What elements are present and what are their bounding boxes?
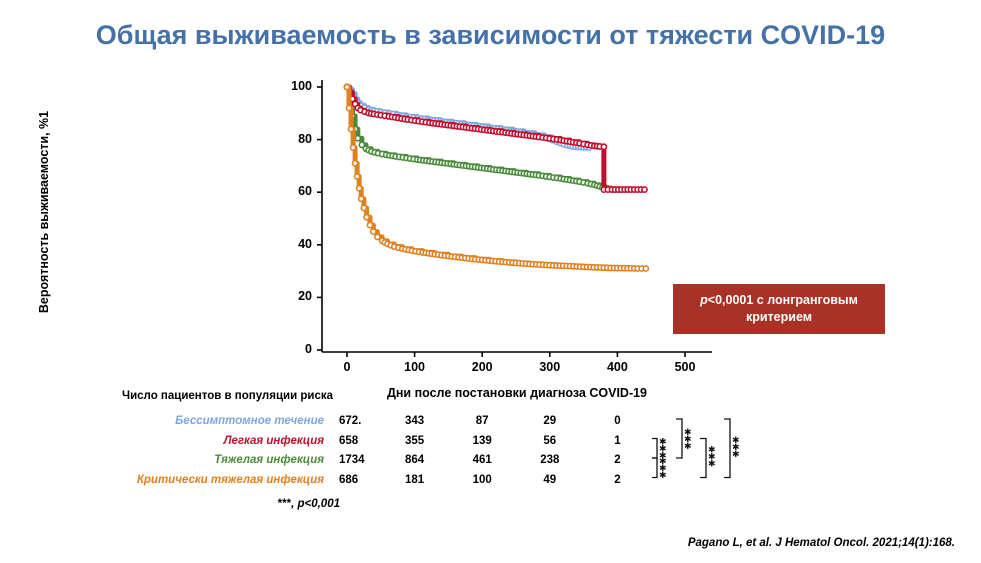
risk-row-value: 49 <box>522 474 578 486</box>
risk-row-value: 139 <box>454 435 510 447</box>
risk-row-value: 355 <box>387 435 443 447</box>
risk-row-value: 864 <box>387 454 443 466</box>
y-tick-label: 100 <box>282 79 312 93</box>
x-axis-label: Дни после постановки диагноза COVID-19 <box>322 386 712 400</box>
significance-brackets: ✱✱✱✱✱✱✱✱✱✱✱✱✱✱✱ <box>630 400 770 520</box>
svg-text:✱: ✱ <box>659 470 667 480</box>
risk-row-value: 181 <box>387 474 443 486</box>
y-tick-label: 0 <box>282 342 312 356</box>
svg-text:✱: ✱ <box>732 449 740 459</box>
y-axis-label: Вероятность выживаемости, %1 <box>37 72 51 352</box>
risk-row-value: 100 <box>454 474 510 486</box>
risk-row-value: 56 <box>522 435 578 447</box>
pvalue-text: <0,0001 с лонгранговым критерием <box>708 293 858 324</box>
x-tick-label: 100 <box>395 360 435 374</box>
page-title: Общая выживаемость в зависимости от тяже… <box>0 20 981 51</box>
risk-row-value: 29 <box>522 415 578 427</box>
risk-row-label: Тяжелая инфекция <box>0 454 330 466</box>
risk-table-heading: Число пациентов в популяции риска <box>122 390 333 402</box>
x-tick-label: 200 <box>462 360 502 374</box>
risk-row-value: 238 <box>522 454 578 466</box>
pvalue-callout: p<0,0001 с лонгранговым критерием <box>673 284 885 334</box>
table-row: Легкая инфекция658355139561 <box>0 435 660 454</box>
risk-row-label: Легкая инфекция <box>0 435 330 447</box>
y-tick-label: 80 <box>282 132 312 146</box>
citation: Pagano L, et al. J Hematol Oncol. 2021;1… <box>688 537 955 549</box>
table-row: Тяжелая инфекция17348644612382 <box>0 454 660 473</box>
x-tick-label: 500 <box>665 360 705 374</box>
svg-text:✱: ✱ <box>708 459 716 469</box>
y-tick-label: 60 <box>282 184 312 198</box>
pvalue-italic-p: p <box>700 293 708 307</box>
slide-root: Общая выживаемость в зависимости от тяже… <box>0 0 981 563</box>
significance-stars: *** <box>278 498 291 510</box>
x-tick-label: 400 <box>597 360 637 374</box>
svg-text:✱: ✱ <box>684 441 692 451</box>
risk-row-label: Критически тяжелая инфекция <box>0 474 330 486</box>
significance-note: ***, p<0,001 <box>180 498 340 510</box>
x-tick-label: 300 <box>530 360 570 374</box>
y-tick-label: 40 <box>282 237 312 251</box>
table-row: Критически тяжелая инфекция686181100492 <box>0 474 660 493</box>
risk-row-value: 343 <box>387 415 443 427</box>
risk-row-value: 461 <box>454 454 510 466</box>
risk-row-value: 87 <box>454 415 510 427</box>
significance-note-text: , p<0,001 <box>291 498 340 510</box>
risk-row-label: Бессимптомное течение <box>0 415 330 427</box>
y-tick-label: 20 <box>282 289 312 303</box>
table-row: Бессимптомное течение672.34387290 <box>0 415 660 434</box>
x-tick-label: 0 <box>327 360 367 374</box>
